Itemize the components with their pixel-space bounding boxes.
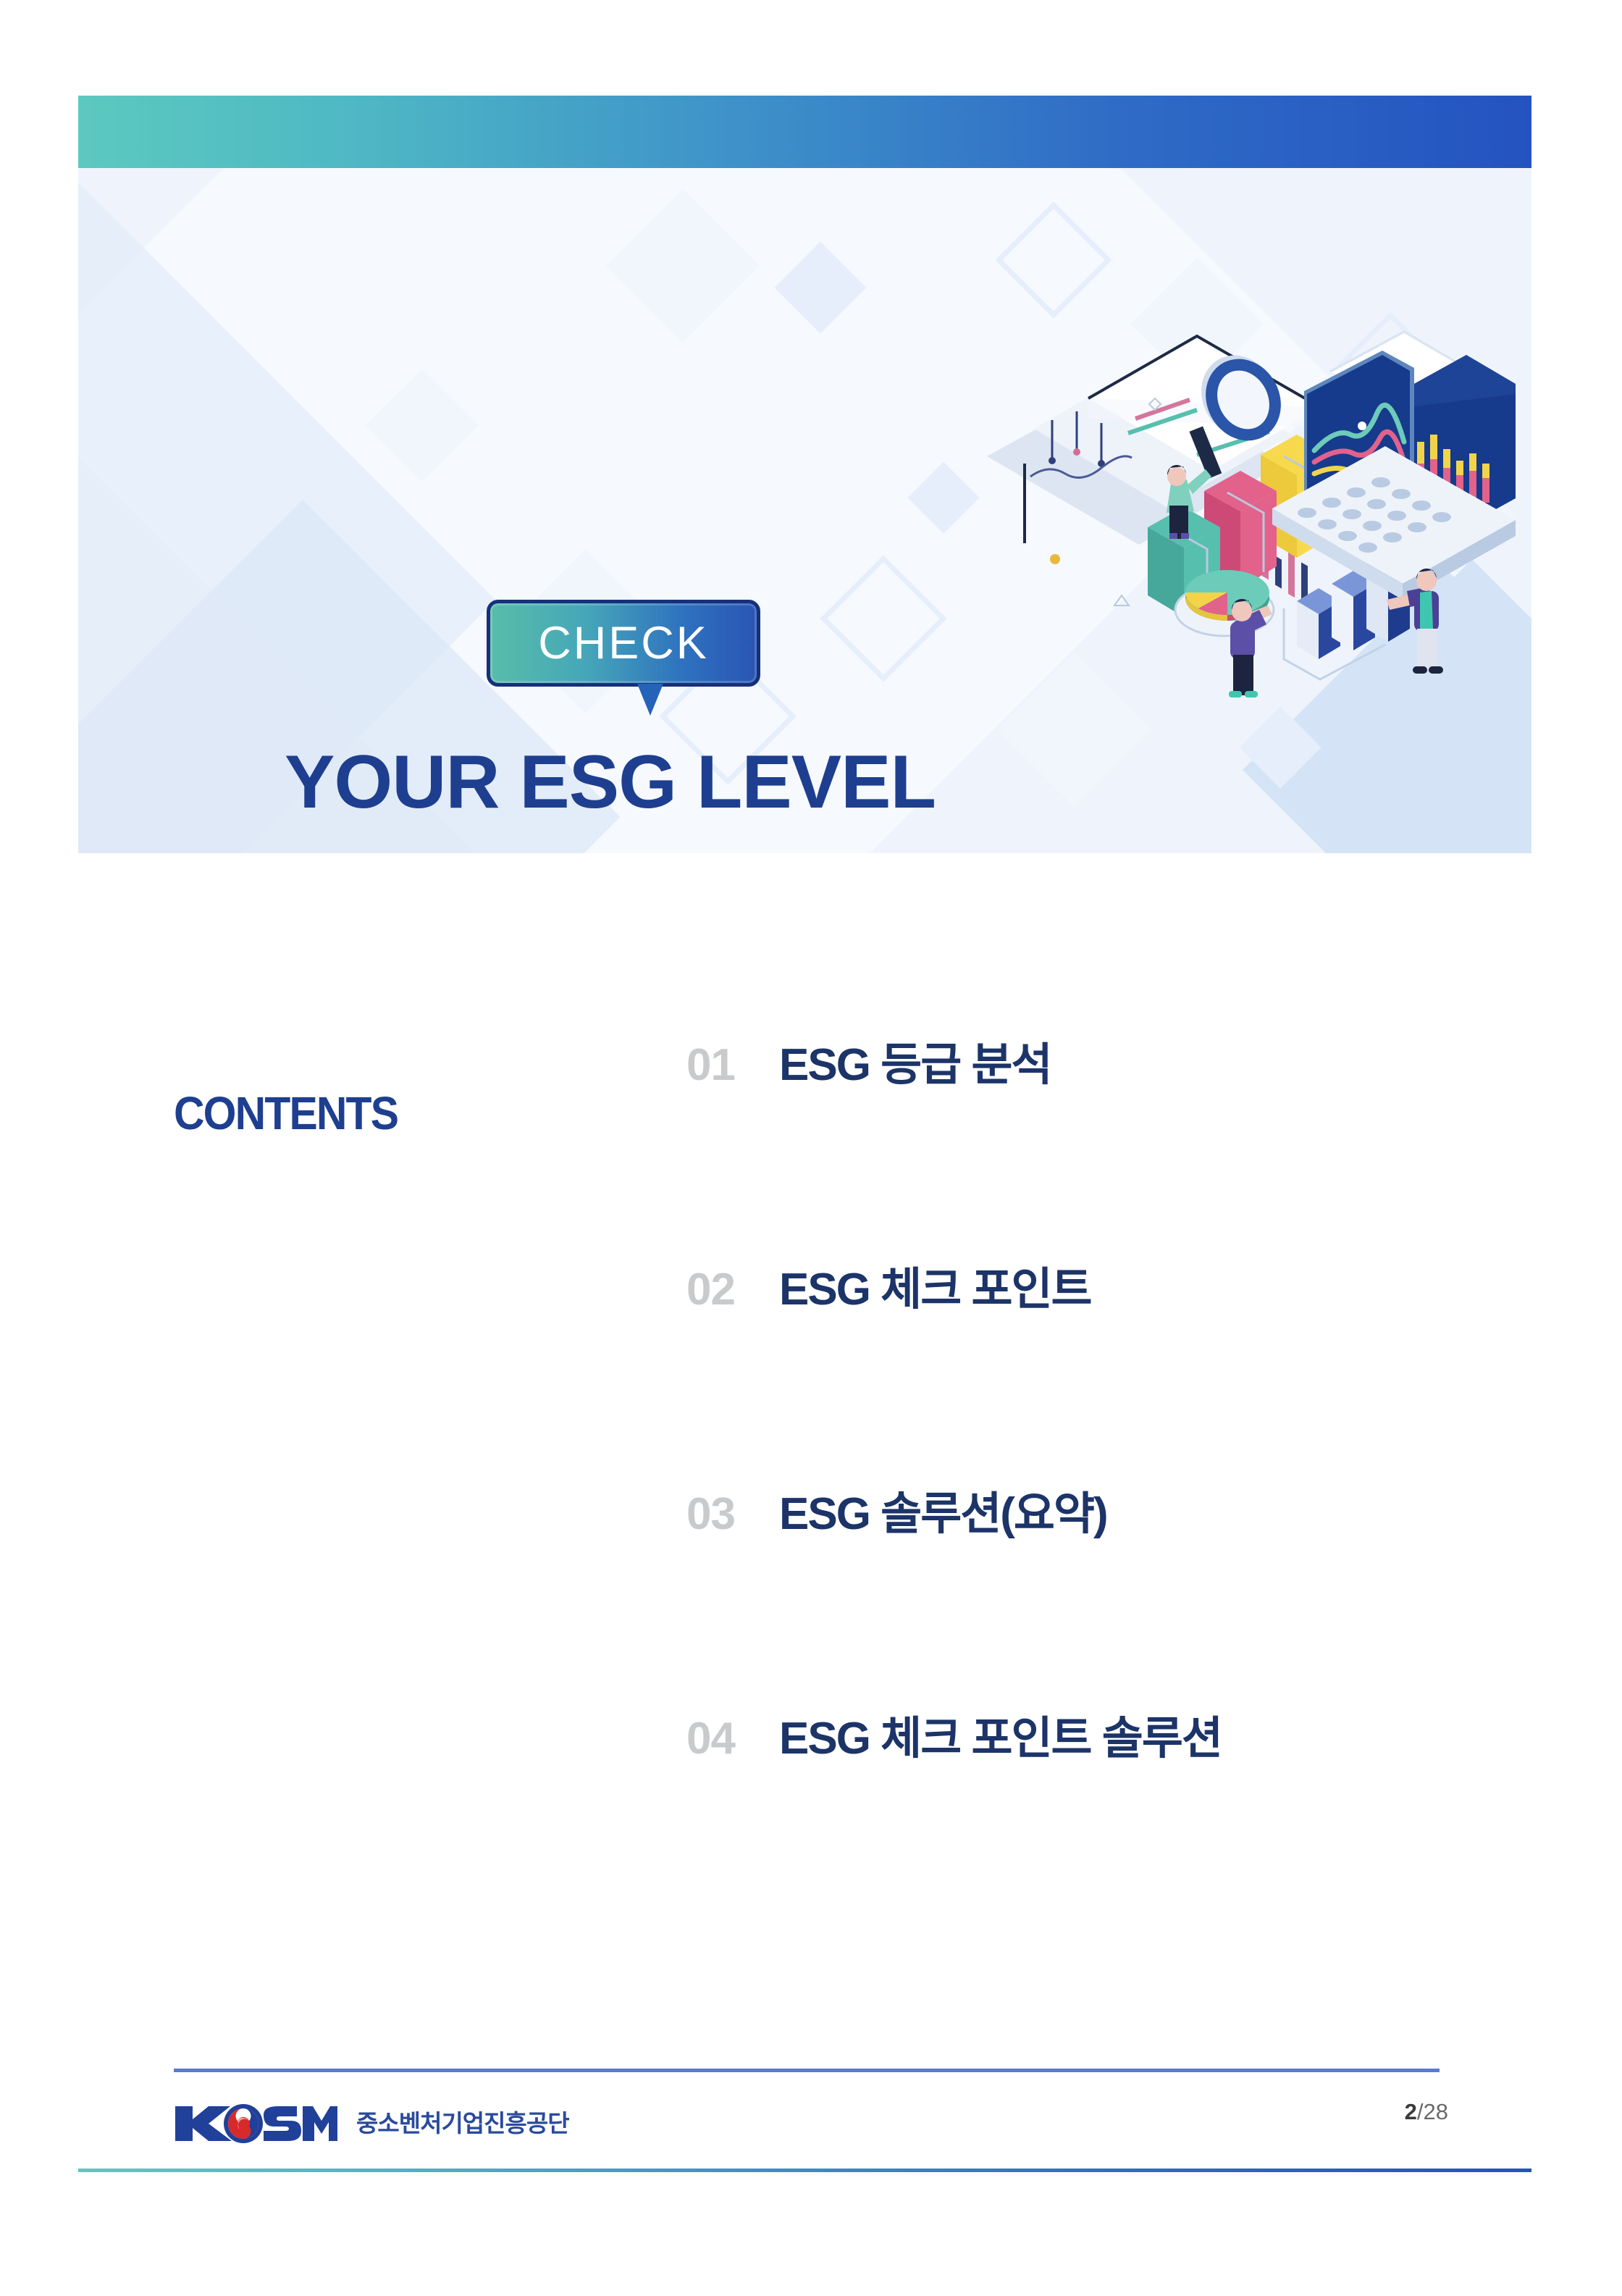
footer: 중소벤처기업진흥공단 2/28 [174, 2090, 1448, 2155]
toc-number: 04 [686, 1717, 779, 1761]
list-item[interactable]: 02 ESG 체크 포인트 [686, 1268, 1555, 1492]
hero-banner: CHECK YOUR ESG LEVEL [78, 96, 1531, 853]
esg-data-analysis-illustration [980, 319, 1516, 724]
kosme-logo-icon [174, 2100, 337, 2145]
table-of-contents: 01 ESG 등급 분석 02 ESG 체크 포인트 03 ESG 솔루션(요약… [686, 1043, 1555, 1941]
organization-name: 중소벤처기업진흥공단 [356, 2111, 569, 2135]
toc-number: 02 [686, 1268, 779, 1312]
hero-panel: CHECK YOUR ESG LEVEL [78, 168, 1531, 853]
list-item[interactable]: 01 ESG 등급 분석 [686, 1043, 1555, 1268]
toc-number: 01 [686, 1043, 779, 1088]
footer-divider [174, 2069, 1440, 2072]
badge-tail [637, 684, 663, 716]
bottom-gradient-rule [78, 2169, 1531, 2172]
person-at-pie [1229, 599, 1272, 697]
laptop [1272, 330, 1516, 600]
contents-section: CONTENTS 01 ESG 등급 분석 02 ESG 체크 포인트 03 E… [0, 1043, 1622, 1948]
list-item[interactable]: 03 ESG 솔루션(요약) [686, 1492, 1555, 1717]
toc-label: ESG 체크 포인트 [779, 1268, 1091, 1312]
accent-dot [1050, 554, 1060, 564]
check-badge: CHECK [487, 600, 760, 687]
kosme-logo: 중소벤처기업진흥공단 [174, 2100, 569, 2145]
page-current: 2 [1405, 2099, 1417, 2124]
page-total: /28 [1417, 2099, 1448, 2124]
slide-page: CHECK YOUR ESG LEVEL [0, 0, 1622, 2296]
list-item[interactable]: 04 ESG 체크 포인트 솔루션 [686, 1717, 1555, 1941]
accent-triangle [1114, 595, 1129, 606]
hero-gradient-bar [78, 96, 1531, 168]
toc-number: 03 [686, 1492, 779, 1537]
toc-label: ESG 등급 분석 [779, 1043, 1051, 1088]
check-badge-label: CHECK [538, 621, 709, 666]
toc-label: ESG 솔루션(요약) [779, 1492, 1107, 1537]
hero-title: YOUR ESG LEVEL [285, 745, 936, 820]
toc-label: ESG 체크 포인트 솔루션 [779, 1717, 1222, 1761]
page-title: CONTENTS [174, 1086, 398, 1140]
page-number: 2/28 [1405, 2100, 1448, 2123]
